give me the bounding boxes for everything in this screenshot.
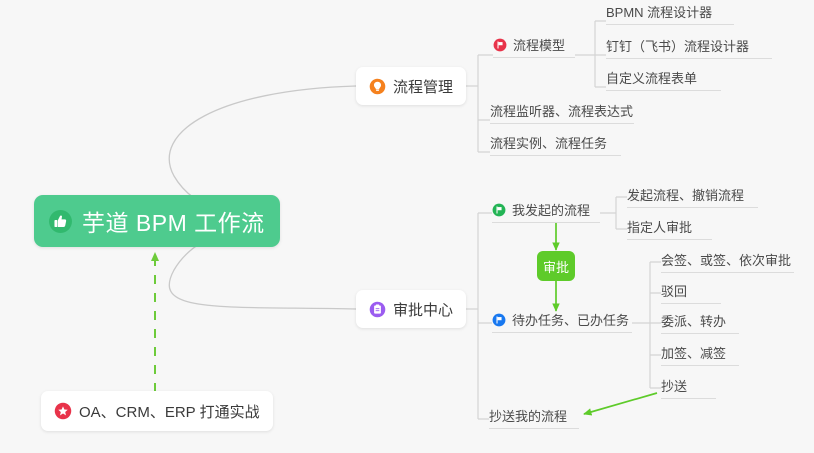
node-label: 流程监听器、流程表达式 (490, 104, 633, 119)
edge-my-processes-trunk (600, 197, 627, 229)
node-approval-center[interactable]: 审批中心 (356, 290, 466, 328)
node-label: 我发起的流程 (512, 203, 590, 218)
node-integration-practice[interactable]: OA、CRM、ERP 打通实战 (41, 391, 273, 431)
node-label: BPMN 流程设计器 (606, 5, 712, 20)
node-process-listener-expression[interactable]: 流程监听器、流程表达式 (490, 103, 634, 124)
thumbs-up-icon (48, 209, 73, 234)
node-label: 指定人审批 (627, 220, 692, 235)
node-label: 流程实例、流程任务 (490, 136, 607, 151)
root-node[interactable]: 芋道 BPM 工作流 (34, 195, 280, 247)
node-bpmn-designer[interactable]: BPMN 流程设计器 (606, 4, 734, 25)
edge-process-management-trunk (461, 55, 493, 152)
approval-chip[interactable]: 审批 (537, 251, 575, 281)
lightbulb-icon (369, 78, 386, 95)
node-label: 抄送我的流程 (489, 409, 567, 424)
node-label: 审批中心 (393, 299, 453, 320)
node-label: 会签、或签、依次审批 (661, 253, 791, 268)
node-todo-done-tasks[interactable]: 待办任务、已办任务 (492, 312, 632, 333)
flag-icon (492, 203, 506, 217)
flag-icon (493, 38, 507, 52)
mindmap-canvas: 芋道 BPM 工作流 流程管理 流程模型 BPMN 流程设计器 钉钉（飞书）流程… (0, 0, 814, 453)
star-icon (54, 402, 72, 420)
node-process-management[interactable]: 流程管理 (356, 67, 466, 105)
root-label: 芋道 BPM 工作流 (82, 204, 265, 238)
edge-process-model-trunk (575, 21, 606, 87)
node-delegate-transfer[interactable]: 委派、转办 (661, 313, 739, 334)
node-add-remove-sign[interactable]: 加签、减签 (661, 345, 739, 366)
edge-todo-tasks-trunk (632, 262, 661, 388)
node-custom-process-form[interactable]: 自定义流程表单 (606, 70, 721, 91)
node-label: 发起流程、撤销流程 (627, 188, 744, 203)
arrow-cc-to-cc-my-processes (584, 393, 657, 414)
node-process-model[interactable]: 流程模型 (493, 37, 575, 58)
node-designated-approver[interactable]: 指定人审批 (627, 219, 712, 240)
node-countersign-or-sequential[interactable]: 会签、或签、依次审批 (661, 252, 794, 273)
node-label: 加签、减签 (661, 346, 726, 361)
node-cc-my-processes[interactable]: 抄送我的流程 (489, 408, 579, 429)
clipboard-icon (369, 301, 386, 318)
node-cc[interactable]: 抄送 (661, 378, 716, 399)
node-dingtalk-feishu-designer[interactable]: 钉钉（飞书）流程设计器 (606, 38, 772, 59)
node-label: 流程管理 (393, 76, 453, 97)
node-label: 委派、转办 (661, 314, 726, 329)
node-label: 驳回 (661, 284, 687, 299)
node-label: 抄送 (661, 379, 687, 394)
node-label: 流程模型 (513, 38, 565, 53)
node-my-initiated-processes[interactable]: 我发起的流程 (492, 202, 600, 223)
node-start-cancel-process[interactable]: 发起流程、撤销流程 (627, 187, 758, 208)
node-reject[interactable]: 驳回 (661, 283, 721, 304)
approval-chip-label: 审批 (543, 257, 569, 276)
flag-icon (492, 313, 506, 327)
node-process-instance-task[interactable]: 流程实例、流程任务 (490, 135, 621, 156)
node-label: 钉钉（飞书）流程设计器 (606, 39, 749, 54)
node-label: 自定义流程表单 (606, 71, 697, 86)
node-label: 待办任务、已办任务 (512, 313, 629, 328)
node-label: OA、CRM、ERP 打通实战 (79, 401, 260, 422)
